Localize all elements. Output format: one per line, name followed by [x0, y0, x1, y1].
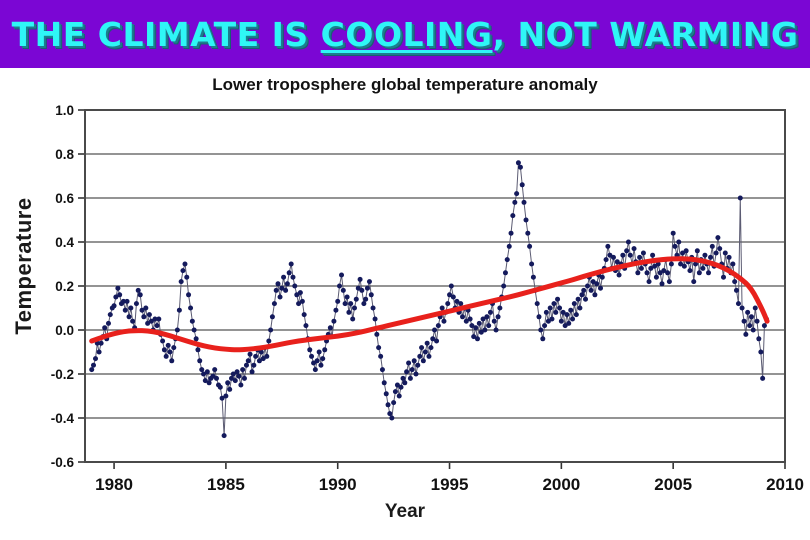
plot-svg: -0.6-0.4-0.20.00.20.40.60.81.0 198019851…: [0, 68, 810, 540]
x-axis-ticks: 1980198519901995200020052010: [95, 462, 804, 494]
svg-text:1995: 1995: [431, 475, 469, 494]
plot-area: -0.6-0.4-0.20.00.20.40.60.81.0 198019851…: [0, 68, 810, 540]
svg-text:2000: 2000: [542, 475, 580, 494]
svg-text:0.8: 0.8: [55, 147, 74, 162]
svg-text:1.0: 1.0: [55, 103, 74, 118]
svg-text:-0.2: -0.2: [51, 367, 74, 382]
y-axis-ticks: -0.6-0.4-0.20.00.20.40.60.81.0: [51, 103, 85, 470]
svg-text:2005: 2005: [654, 475, 692, 494]
svg-text:1980: 1980: [95, 475, 133, 494]
svg-text:0.0: 0.0: [55, 323, 74, 338]
banner-title-emphasis: COOLING: [321, 15, 493, 54]
svg-text:0.2: 0.2: [55, 279, 74, 294]
chart-figure: Lower troposphere global temperature ano…: [0, 68, 810, 540]
banner-title-suffix: , NOT WARMING: [493, 15, 799, 54]
svg-text:1990: 1990: [319, 475, 357, 494]
svg-text:-0.4: -0.4: [51, 411, 75, 426]
svg-text:1985: 1985: [207, 475, 245, 494]
data-series-monthly-anomaly: [89, 160, 769, 438]
gridlines: [85, 110, 785, 462]
banner-title: THE CLIMATE IS COOLING, NOT WARMING: [12, 15, 799, 54]
svg-text:2010: 2010: [766, 475, 804, 494]
banner-title-prefix: THE CLIMATE IS: [12, 15, 321, 54]
svg-text:0.4: 0.4: [55, 235, 74, 250]
title-banner: THE CLIMATE IS COOLING, NOT WARMING: [0, 0, 810, 68]
svg-text:-0.6: -0.6: [51, 455, 75, 470]
svg-text:0.6: 0.6: [55, 191, 74, 206]
